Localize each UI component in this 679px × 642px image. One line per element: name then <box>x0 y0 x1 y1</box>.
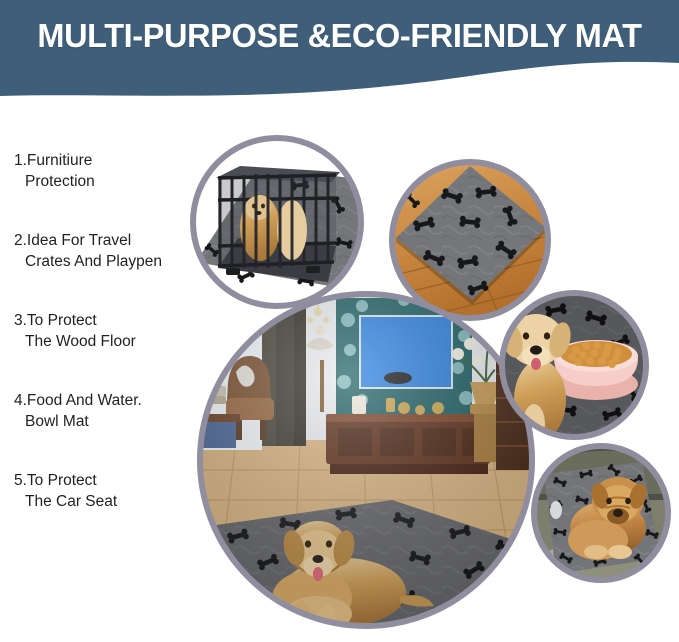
feature-item-5: 5.To Protect The Car Seat <box>14 470 204 512</box>
car-seat-photo <box>534 446 668 586</box>
feature-item-4-line1: 4.Food And Water. <box>14 390 204 411</box>
feature-item-1-line2: Protection <box>14 171 204 192</box>
living-room-photo-ring <box>200 294 532 626</box>
feature-item-4-line2: Bowl Mat <box>14 411 204 432</box>
feature-item-5-line2: The Car Seat <box>14 491 204 512</box>
car-seat-photo-ring <box>534 446 668 580</box>
living-room-photo <box>196 294 532 642</box>
feature-item-2: 2.Idea For Travel Crates And Playpen <box>14 230 204 272</box>
feature-item-2-line2: Crates And Playpen <box>14 251 204 272</box>
feature-list: 1.Furnitiure Protection 2.Idea For Trave… <box>14 150 204 512</box>
food-bowl-photo-ring <box>502 293 646 437</box>
crate-photo <box>185 130 375 320</box>
header-banner: MULTI-PURPOSE &ECO-FRIENDLY MAT <box>0 0 679 105</box>
feature-item-3-line2: The Wood Floor <box>14 331 204 352</box>
page-title: MULTI-PURPOSE &ECO-FRIENDLY MAT <box>5 16 674 56</box>
feature-item-1: 1.Furnitiure Protection <box>14 150 204 192</box>
wood-floor-photo <box>392 162 548 318</box>
dog-illustration <box>272 521 434 642</box>
feature-item-3-line1: 3.To Protect <box>14 310 204 331</box>
food-bowl-photo <box>498 293 646 446</box>
feature-item-1-line1: 1.Furnitiure <box>14 150 204 171</box>
crate-photo-ring <box>193 138 361 306</box>
wood-floor-photo-ring <box>392 162 548 318</box>
feature-item-2-line1: 2.Idea For Travel <box>14 230 204 251</box>
feature-item-4: 4.Food And Water. Bowl Mat <box>14 390 204 432</box>
feature-item-5-line1: 5.To Protect <box>14 470 204 491</box>
feature-item-3: 3.To Protect The Wood Floor <box>14 310 204 352</box>
